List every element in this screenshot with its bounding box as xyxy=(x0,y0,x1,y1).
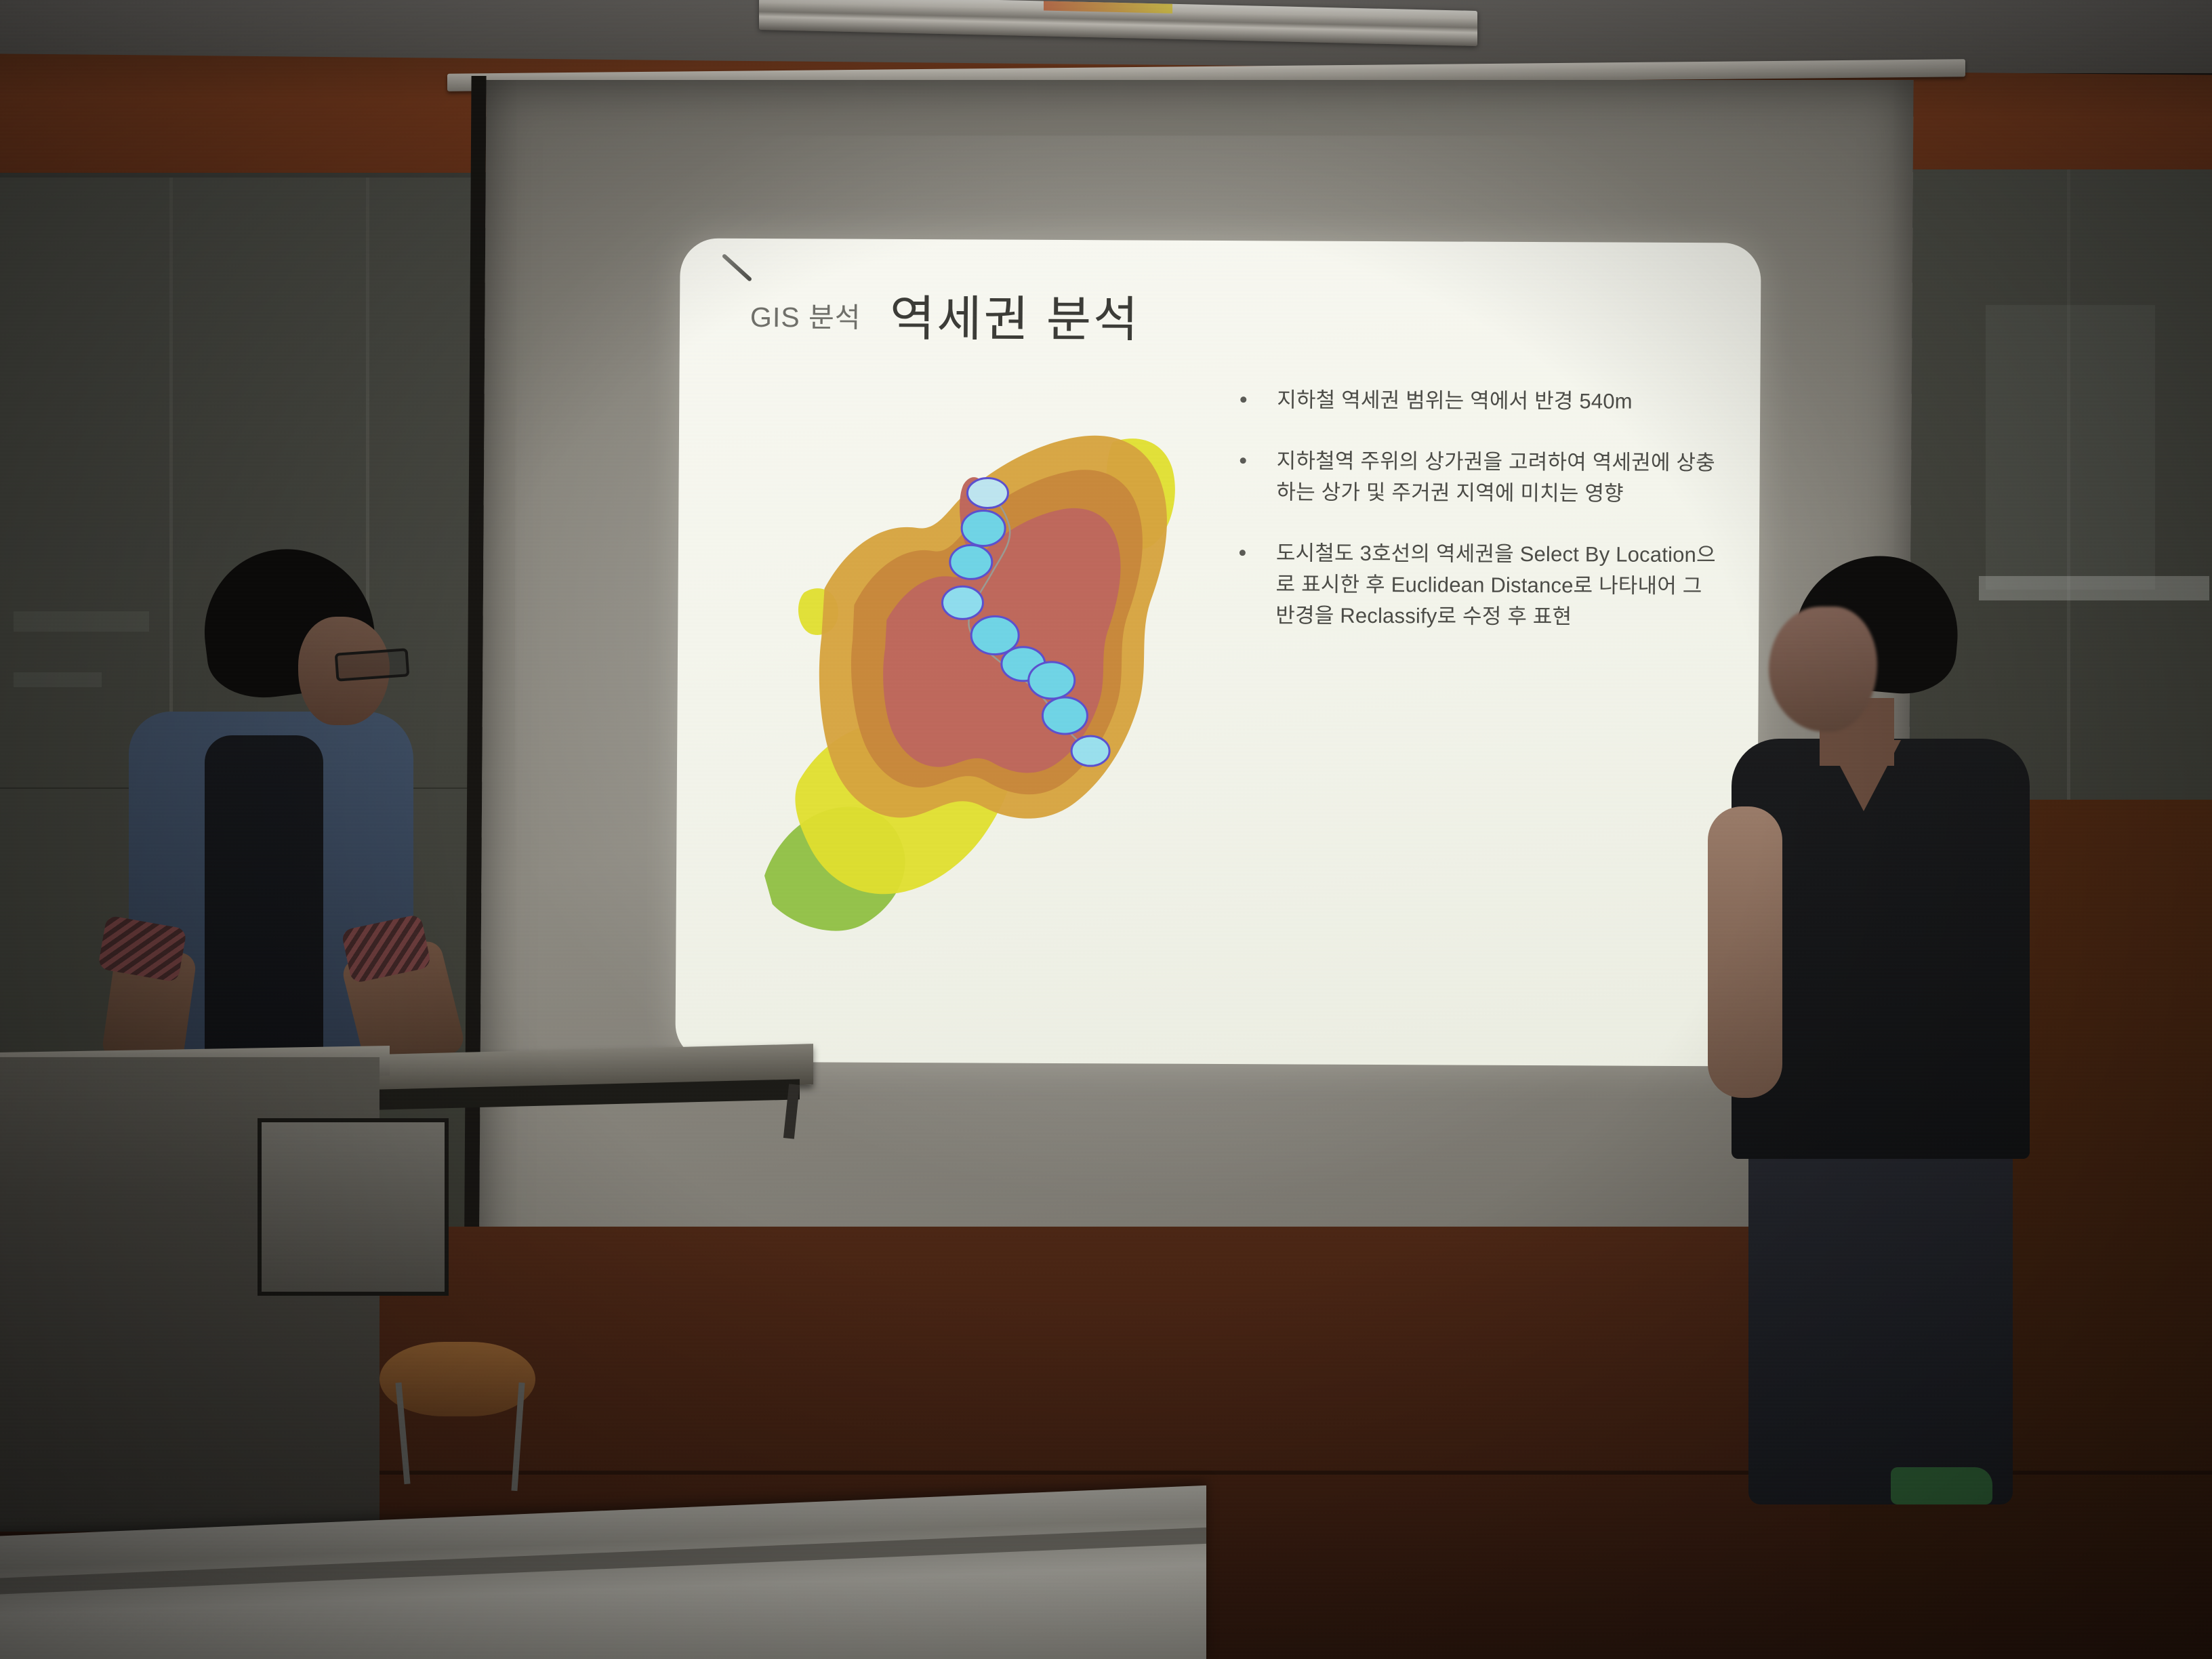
lectern-side-panel xyxy=(258,1118,449,1296)
list-item: 지하철 역세권 범위는 역에서 반경 540m xyxy=(1221,384,1723,417)
shoe xyxy=(1891,1467,1992,1504)
bullet-dot-icon xyxy=(1240,550,1246,556)
wall-recess-right xyxy=(1986,305,2155,590)
face xyxy=(1769,607,1877,732)
map-svg xyxy=(757,401,1221,939)
presentation-slide: GIS 분석 역세권 분석 xyxy=(675,239,1761,1067)
inner-black-tee xyxy=(205,735,323,1061)
presenter-right xyxy=(1667,556,2087,1504)
glasses-icon xyxy=(335,648,410,681)
page-title: 역세권 분석 xyxy=(890,279,1141,351)
bullet-dot-icon xyxy=(1240,457,1246,464)
classroom-presentation-photo: GIS 분석 역세권 분석 xyxy=(0,0,2212,1659)
light-reflection xyxy=(1044,1,1172,14)
list-item: 도시철도 3호선의 역세권을 Select By Location으로 표시한 … xyxy=(1220,537,1722,633)
bullet-text: 도시철도 3호선의 역세권을 Select By Location으로 표시한 … xyxy=(1275,541,1716,628)
gis-catchment-map xyxy=(757,401,1221,939)
left-arm xyxy=(1708,806,1782,1098)
slide-tick-decoration xyxy=(722,253,752,282)
bullet-dot-icon xyxy=(1240,396,1246,403)
jeans xyxy=(1748,1139,2013,1504)
bullet-text: 지하철역 주위의 상가권을 고려하여 역세권에 상충하는 상가 및 주거권 지역… xyxy=(1276,449,1715,505)
list-item: 지하철역 주위의 상가권을 고려하여 역세권에 상충하는 상가 및 주거권 지역… xyxy=(1221,445,1723,510)
slide-bullet-list: 지하철 역세권 범위는 역에서 반경 540m 지하철역 주위의 상가권을 고려… xyxy=(1220,384,1723,663)
slide-subtitle: GIS 분석 xyxy=(750,294,861,335)
bullet-text: 지하철 역세권 범위는 역에서 반경 540m xyxy=(1277,388,1633,413)
presenter-left xyxy=(27,542,501,1084)
